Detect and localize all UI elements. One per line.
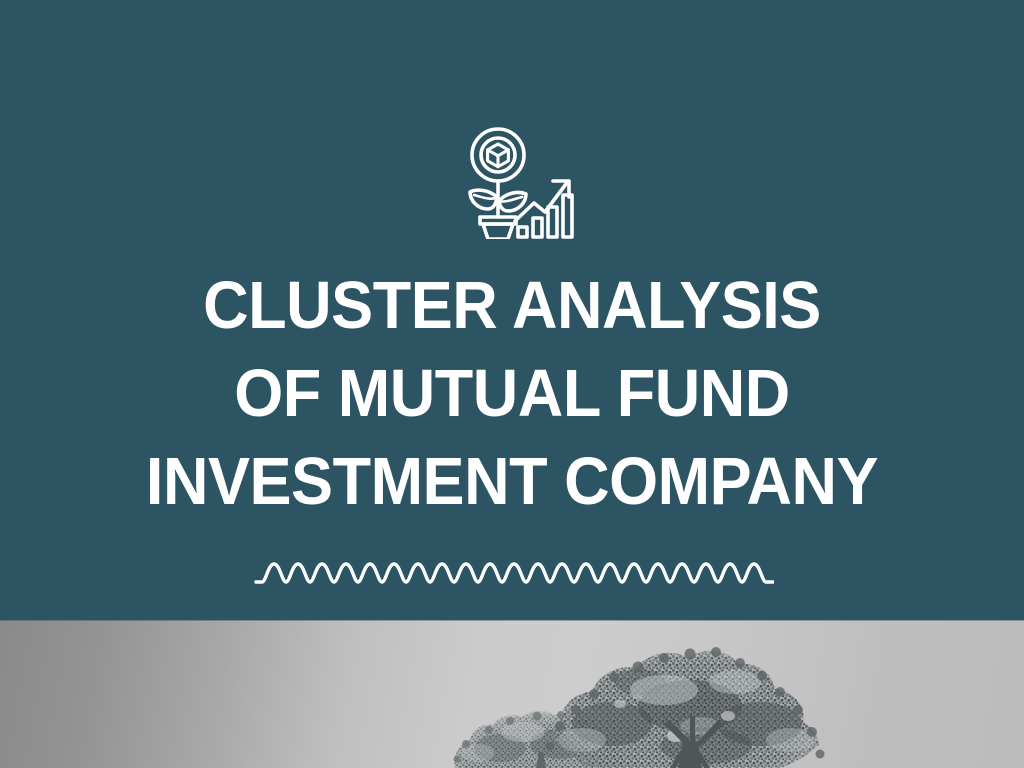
wave-path [256, 564, 773, 582]
chart-bar-2 [533, 218, 542, 237]
title-line-2: OF MUTUAL FUND [31, 350, 994, 438]
title-line-1: CLUSTER ANALYSIS [31, 262, 994, 350]
title-slide: CLUSTER ANALYSIS OF MUTUAL FUND INVESTME… [0, 0, 1024, 768]
hero-panel: CLUSTER ANALYSIS OF MUTUAL FUND INVESTME… [0, 0, 1024, 620]
page-title: CLUSTER ANALYSIS OF MUTUAL FUND INVESTME… [0, 262, 1024, 526]
large-tree [544, 647, 824, 768]
band-top-seam [0, 620, 1024, 621]
chart-bar-3 [548, 207, 557, 237]
cube-icon [488, 144, 509, 167]
flower-pot [480, 217, 516, 239]
chart-bar-1 [518, 227, 527, 237]
wavy-line-divider [254, 552, 774, 594]
chart-bar-4 [563, 195, 572, 237]
grayscale-trees-photo [0, 620, 1024, 768]
title-line-3: INVESTMENT COMPANY [31, 438, 994, 526]
growth-plant-chart-icon [461, 121, 579, 239]
